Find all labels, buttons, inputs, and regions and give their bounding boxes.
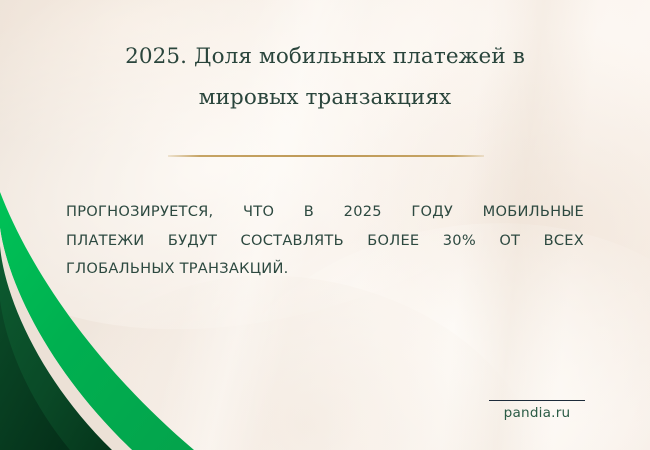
body-word: МОБИЛЬНЫЕ: [483, 198, 584, 227]
slide-canvas: 2025. Доля мобильных платежей в мировых …: [0, 0, 650, 450]
source-attribution: pandia.ru: [489, 405, 585, 421]
body-line-1: ПРОГНОЗИРУЕТСЯ, ЧТО В 2025 ГОДУ МОБИЛЬНЫ…: [66, 198, 584, 227]
body-word: В: [304, 198, 314, 227]
body-word: ГОДУ: [411, 198, 453, 227]
body-word: ОТ: [499, 227, 520, 256]
body-word: СОСТАВЛЯТЬ: [241, 227, 344, 256]
footer-rule: [489, 400, 585, 401]
body-word: ГЛОБАЛЬНЫХ ТРАНЗАКЦИЙ.: [66, 255, 289, 284]
green-corner-swoosh: [0, 150, 230, 450]
body-word: БОЛЕЕ: [367, 227, 419, 256]
gold-divider: [168, 155, 484, 157]
body-line-2: ПЛАТЕЖИ БУДУТ СОСТАВЛЯТЬ БОЛЕЕ 30% ОТ ВС…: [66, 227, 584, 256]
slide-title: 2025. Доля мобильных платежей в мировых …: [0, 36, 650, 118]
body-word: БУДУТ: [168, 227, 217, 256]
body-word: ПРОГНОЗИРУЕТСЯ,: [66, 198, 213, 227]
slide-footer: pandia.ru: [489, 400, 585, 421]
body-word-year: 2025: [344, 198, 382, 227]
title-line-2: мировых транзакциях: [0, 77, 650, 118]
body-word: ПЛАТЕЖИ: [66, 227, 144, 256]
body-word: ВСЕХ: [544, 227, 584, 256]
slide-body: ПРОГНОЗИРУЕТСЯ, ЧТО В 2025 ГОДУ МОБИЛЬНЫ…: [66, 198, 584, 284]
title-line-1: 2025. Доля мобильных платежей в: [0, 36, 650, 77]
body-line-3: ГЛОБАЛЬНЫХ ТРАНЗАКЦИЙ.: [66, 255, 584, 284]
body-word-percent: 30%: [443, 227, 476, 256]
body-word: ЧТО: [243, 198, 274, 227]
